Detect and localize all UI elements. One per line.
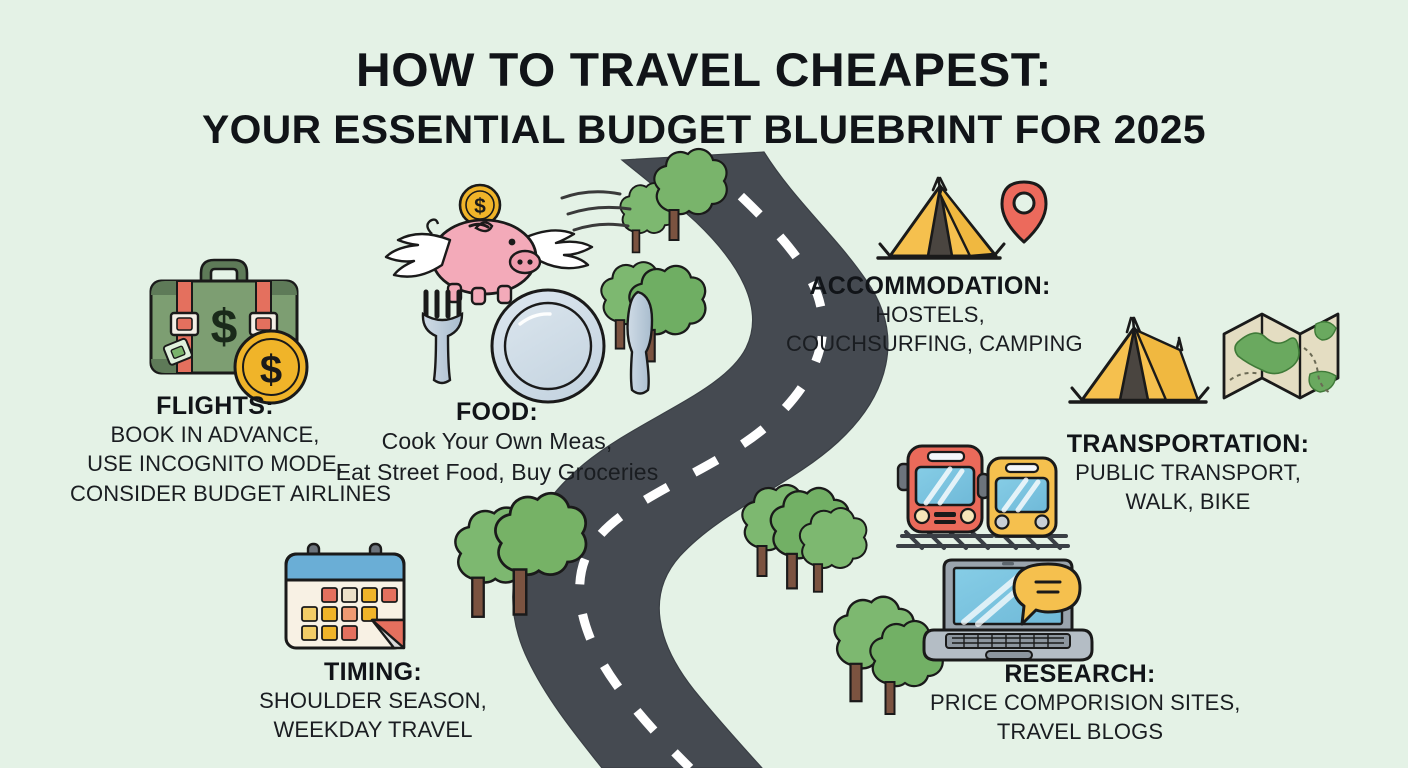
section-timing-title: TIMING: bbox=[228, 658, 518, 686]
section-accommodation-title: ACCOMMODATION: bbox=[786, 272, 1074, 300]
section-flights-line-3: CONSIDER BUDGET AIRLINES bbox=[70, 479, 360, 508]
section-research-line-2: TRAVEL BLOGS bbox=[930, 717, 1230, 746]
section-accommodation-line-1: HOSTELS, bbox=[786, 300, 1074, 329]
svg-text:$: $ bbox=[211, 301, 238, 354]
section-research-title: RESEARCH: bbox=[930, 660, 1230, 688]
section-transportation-title: TRANSPORTATION: bbox=[1058, 430, 1318, 458]
section-flights-title: FLIGHTS: bbox=[70, 392, 360, 420]
section-food-title: FOOD: bbox=[332, 398, 662, 426]
section-research-line-1: PRICE COMPORISION SITES, bbox=[930, 688, 1230, 717]
section-transportation-line-2: WALK, BIKE bbox=[1058, 487, 1318, 516]
section-transportation: TRANSPORTATION: PUBLIC TRANSPORT, WALK, … bbox=[1058, 430, 1318, 517]
svg-text:$: $ bbox=[474, 195, 486, 218]
section-timing-line-2: WEEKDAY TRAVEL bbox=[228, 715, 518, 744]
section-food: FOOD: Cook Your Own Meas, Eat Street Foo… bbox=[332, 398, 662, 488]
section-transportation-line-1: PUBLIC TRANSPORT, bbox=[1058, 458, 1318, 487]
section-timing: TIMING: SHOULDER SEASON, WEEKDAY TRAVEL bbox=[228, 658, 518, 745]
infographic-poster: $ $ $ bbox=[0, 0, 1408, 768]
laptop-with-speech-bubble-icon bbox=[924, 560, 1092, 660]
section-flights-line-2: USE INCOGNITO MODE, bbox=[70, 449, 360, 478]
svg-text:$: $ bbox=[260, 348, 282, 392]
section-research: RESEARCH: PRICE COMPORISION SITES, TRAVE… bbox=[930, 660, 1230, 747]
section-food-line-2: Eat Street Food, Buy Groceries bbox=[332, 457, 662, 488]
poster-title-line-2: YOUR ESSENTIAL BUDGET BLUEBRINT FOR 2025 bbox=[0, 108, 1408, 153]
poster-title-line-1: HOW TO TRAVEL CHEAPEST: bbox=[0, 42, 1408, 97]
section-flights: FLIGHTS: BOOK IN ADVANCE, USE INCOGNITO … bbox=[70, 392, 360, 508]
section-flights-line-1: BOOK IN ADVANCE, bbox=[70, 420, 360, 449]
section-accommodation: ACCOMMODATION: HOSTELS, COUCHSURFING, CA… bbox=[786, 272, 1074, 359]
section-accommodation-line-2: COUCHSURFING, CAMPING bbox=[786, 329, 1074, 358]
section-timing-line-1: SHOULDER SEASON, bbox=[228, 686, 518, 715]
calendar-icon bbox=[286, 544, 404, 648]
section-food-line-1: Cook Your Own Meas, bbox=[332, 426, 662, 457]
